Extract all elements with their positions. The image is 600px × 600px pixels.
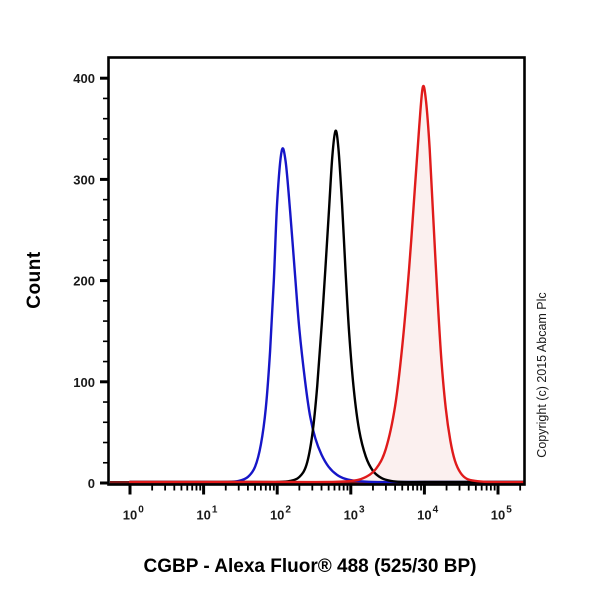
copyright-notice: Copyright (c) 2015 Abcam Plc: [535, 292, 549, 457]
x-tick-label-base: 10: [270, 508, 284, 523]
x-tick-label-exponent: 1: [212, 505, 218, 516]
x-tick-label-exponent: 4: [433, 505, 439, 516]
chart-svg: 0100200300400 100101102103104105 Count C…: [0, 0, 600, 600]
y-tick-label: 400: [73, 71, 95, 86]
y-tick-label: 100: [73, 375, 95, 390]
flow-cytometry-histogram-figure: 0100200300400 100101102103104105 Count C…: [0, 0, 600, 600]
x-tick-label-exponent: 3: [359, 505, 365, 516]
x-tick-label-exponent: 5: [506, 505, 512, 516]
x-tick-label-base: 10: [123, 508, 137, 523]
x-tick-label-base: 10: [491, 508, 505, 523]
plot-area: [109, 58, 524, 484]
x-tick-label-base: 10: [344, 508, 358, 523]
x-tick-label-base: 10: [417, 508, 431, 523]
x-tick-label-exponent: 0: [138, 505, 144, 516]
y-tick-label: 200: [73, 274, 95, 289]
x-tick-label-base: 10: [196, 508, 210, 523]
y-tick-label: 300: [73, 172, 95, 187]
y-axis-label: Count: [24, 251, 45, 309]
x-tick-label-exponent: 2: [285, 505, 291, 516]
y-tick-label: 0: [88, 476, 95, 491]
chart-title: CGBP - Alexa Fluor® 488 (525/30 BP): [144, 556, 477, 577]
